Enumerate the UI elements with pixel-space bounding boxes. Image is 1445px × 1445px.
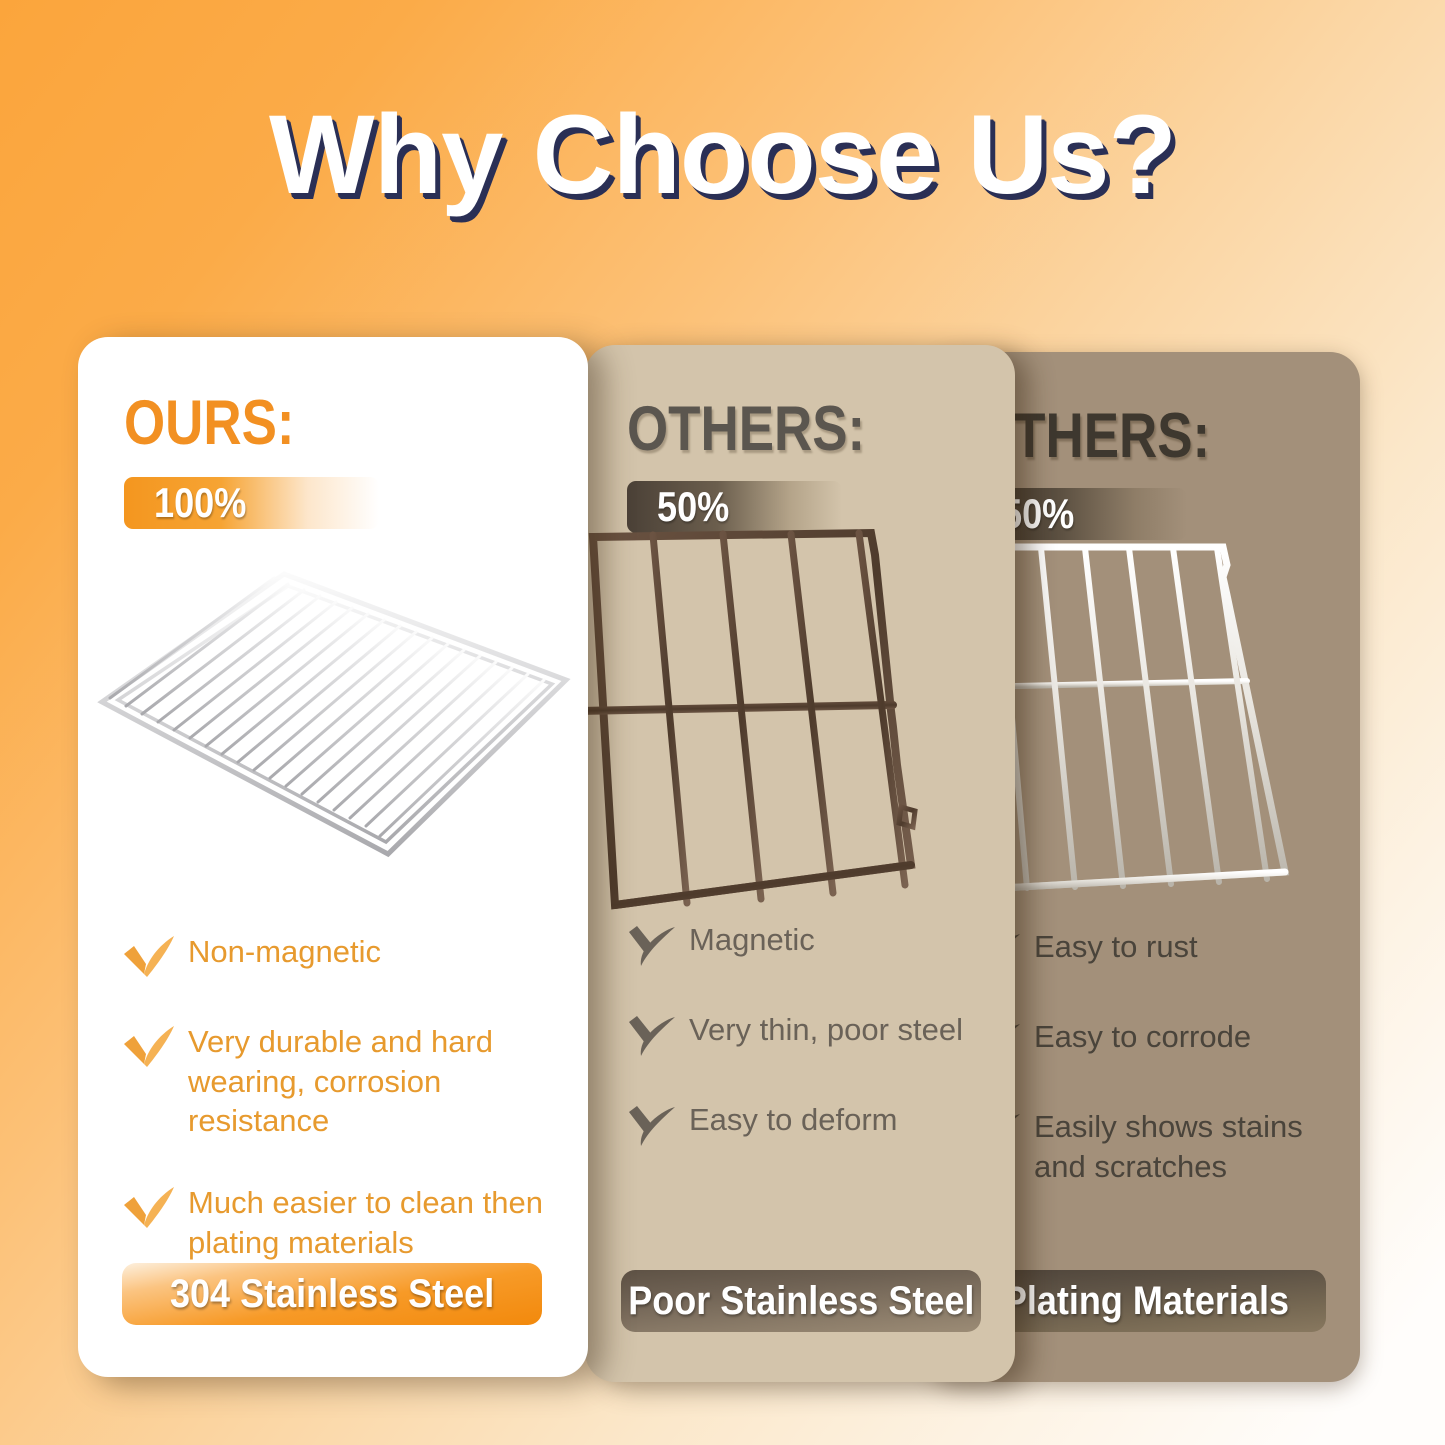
feature-label: Non-magnetic (178, 932, 381, 972)
list-item: Very durable and hard wearing, corrosion… (122, 1022, 562, 1141)
card-heading-2: OTHERS: (627, 393, 865, 465)
card-banner-label-3: Plating Materials (1003, 1279, 1289, 1324)
feature-label: Easily shows stains and scratches (1024, 1107, 1358, 1186)
feature-label: Much easier to clean then plating materi… (178, 1183, 562, 1262)
comparison-cards: OTHERS: 50% (0, 0, 1445, 1445)
card-banner-label-1: 304 Stainless Steel (170, 1272, 494, 1317)
percent-badge-1: 100% (124, 477, 379, 529)
feature-label: Easy to corrode (1024, 1017, 1251, 1057)
cross-icon (623, 922, 679, 968)
feature-list-2: Magnetic Very thin, poor steel (623, 920, 1013, 1190)
cross-icon (623, 1102, 679, 1148)
check-icon (122, 1185, 178, 1231)
feature-label: Easy to rust (1024, 927, 1198, 967)
feature-label: Very thin, poor steel (679, 1010, 963, 1050)
list-item: Easy to corrode (968, 1017, 1358, 1065)
list-item: Non-magnetic (122, 932, 562, 980)
product-image-stainless-rack (88, 562, 578, 882)
check-icon (122, 1024, 178, 1070)
card-banner-3: Plating Materials (966, 1270, 1326, 1332)
feature-list-3: Easy to rust Easy to corrode (968, 927, 1358, 1228)
comparison-card-ours: OURS: 100% (78, 337, 588, 1377)
feature-label: Easy to deform (679, 1100, 897, 1140)
list-item: Easy to rust (968, 927, 1358, 975)
list-item: Easy to deform (623, 1100, 1013, 1148)
percent-value-1: 100% (154, 479, 246, 527)
list-item: Very thin, poor steel (623, 1010, 1013, 1058)
card-banner-label-2: Poor Stainless Steel (628, 1279, 974, 1324)
list-item: Much easier to clean then plating materi… (122, 1183, 562, 1262)
card-heading-1: OURS: (124, 387, 295, 459)
check-icon (122, 934, 178, 980)
list-item: Magnetic (623, 920, 1013, 968)
feature-list-1: Non-magnetic Very durable and hard weari… (122, 932, 562, 1304)
feature-label: Very durable and hard wearing, corrosion… (178, 1022, 562, 1141)
comparison-card-others-poor-steel: OTHERS: 50% (585, 345, 1015, 1382)
product-image-plated-rack (955, 517, 1355, 937)
feature-label: Magnetic (679, 920, 815, 960)
card-banner-1: 304 Stainless Steel (122, 1263, 542, 1325)
cross-icon (623, 1012, 679, 1058)
product-image-rusty-rack (585, 515, 1005, 935)
card-banner-2: Poor Stainless Steel (621, 1270, 981, 1332)
list-item: Easily shows stains and scratches (968, 1107, 1358, 1186)
